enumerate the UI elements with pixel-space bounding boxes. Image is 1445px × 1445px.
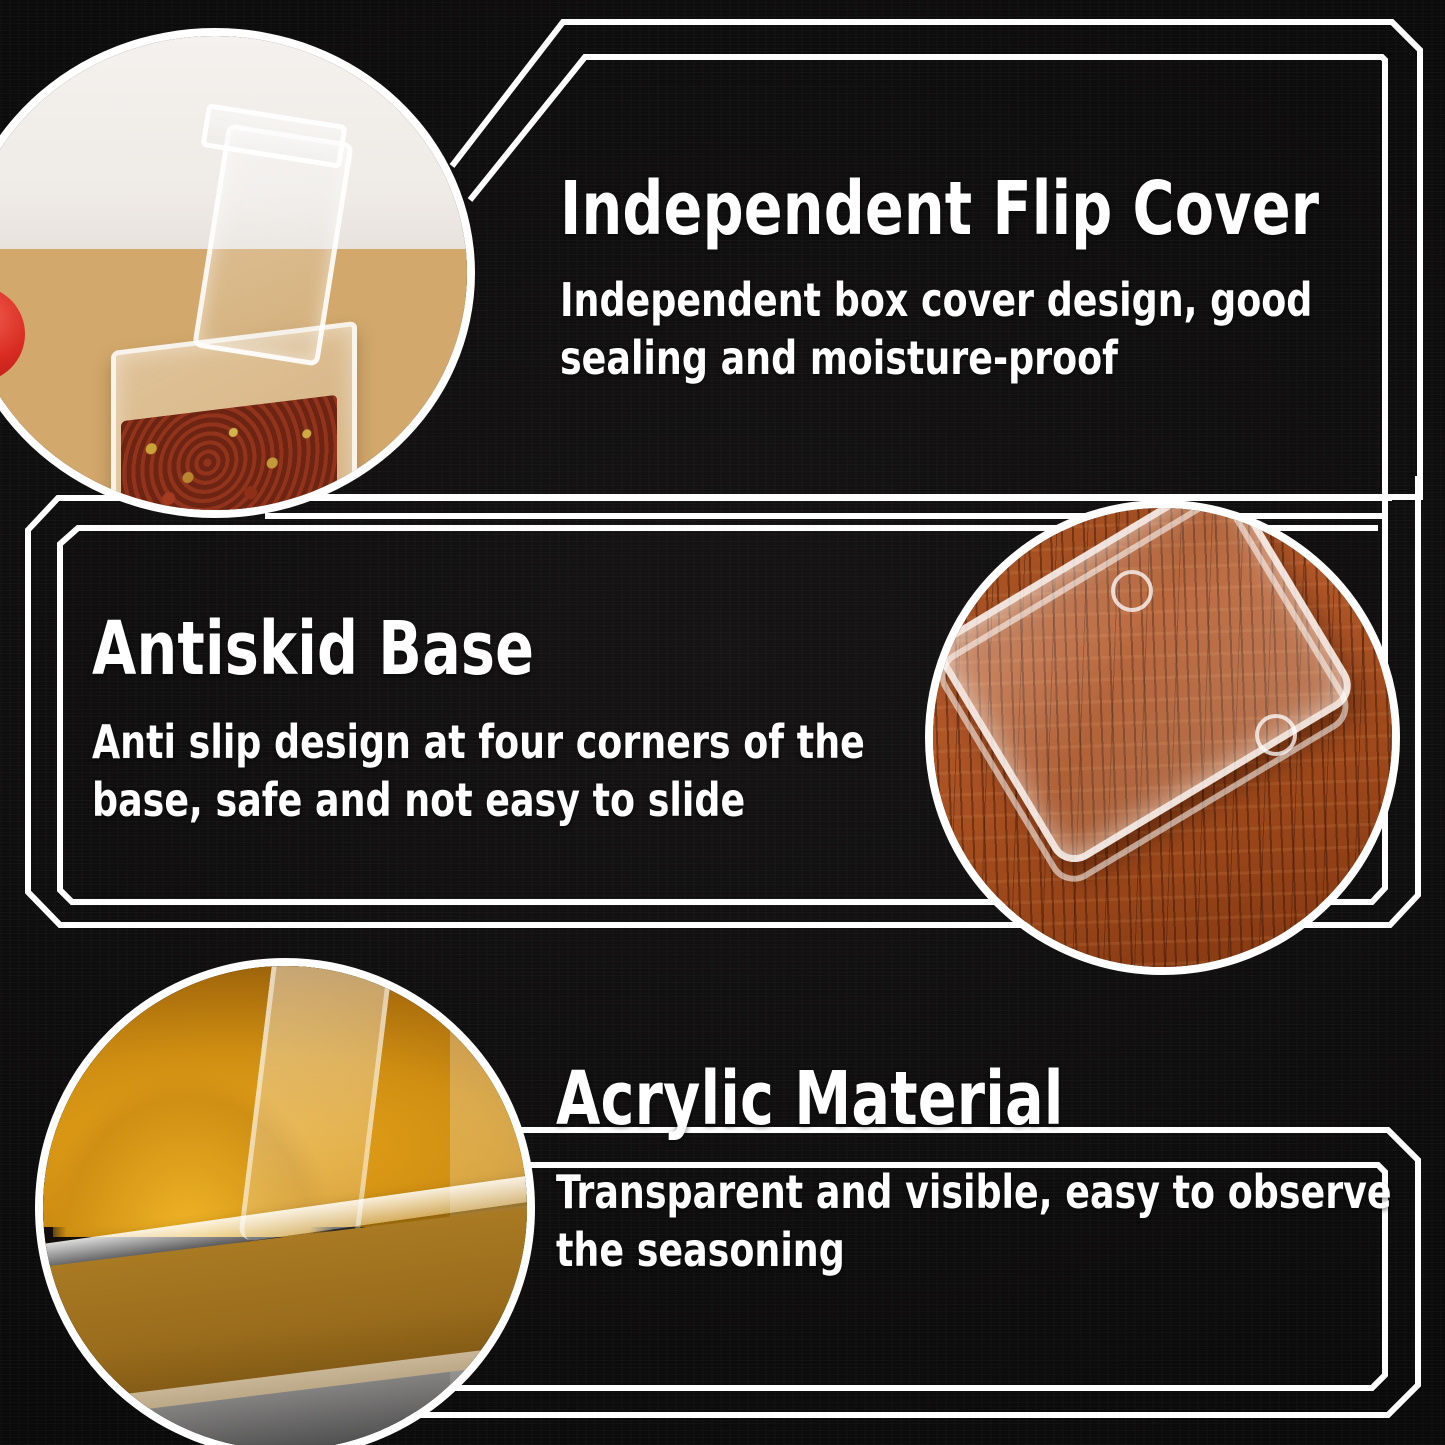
feature-3-description-line-1: Transparent and visible, easy to observe [556, 1164, 1330, 1222]
feature-2-headline: Antiskid Base [92, 612, 849, 686]
feature-1-description-line-1: Independent box cover design, good [560, 272, 1317, 330]
feature-2-description-line-1: Anti slip design at four corners of the [92, 714, 866, 772]
feature-3-description: Transparent and visible, easy to observe… [556, 1164, 1330, 1280]
photo2-antiskid-foot-2 [1255, 714, 1297, 756]
feature-3-headline: Acrylic Material [556, 1062, 1313, 1136]
feature-1-description: Independent box cover design, good seali… [560, 272, 1317, 388]
flip-cover-photo [0, 28, 475, 518]
feature-2-description: Anti slip design at four corners of the … [92, 714, 866, 830]
photo2-antiskid-foot-1 [1111, 570, 1153, 612]
feature-3-description-line-2: the seasoning [556, 1222, 1330, 1280]
antiskid-base-photo [925, 500, 1400, 975]
infographic-canvas: Independent Flip Cover Independent box c… [0, 0, 1445, 1445]
feature-text-3: Acrylic Material Transparent and visible… [556, 1062, 1436, 1280]
feature-1-headline: Independent Flip Cover [560, 172, 1300, 246]
acrylic-material-photo [35, 958, 535, 1445]
feature-text-2: Antiskid Base Anti slip design at four c… [92, 612, 972, 830]
feature-1-description-line-2: sealing and moisture-proof [560, 330, 1317, 388]
feature-text-1: Independent Flip Cover Independent box c… [560, 172, 1420, 388]
feature-2-description-line-2: base, safe and not easy to slide [92, 772, 866, 830]
